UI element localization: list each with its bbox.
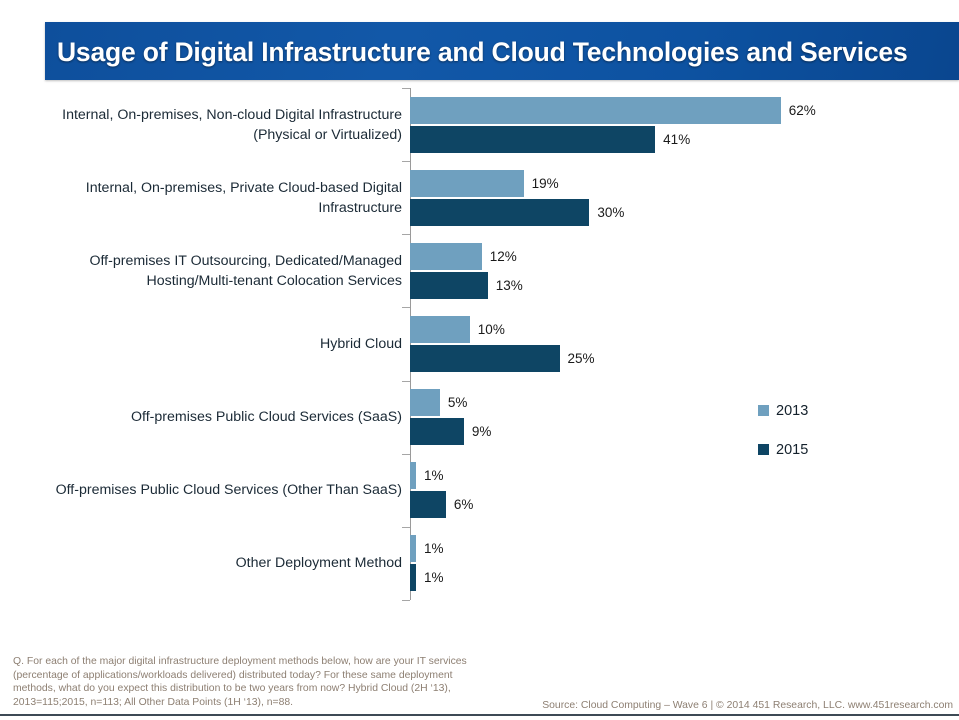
source-line: Source: Cloud Computing – Wave 6 | © 201… (542, 700, 953, 711)
bar-2013[interactable] (410, 389, 440, 416)
category-label: Other Deployment Method (22, 553, 402, 573)
bar-value-label: 1% (424, 535, 444, 562)
category-label-line: Hybrid Cloud (22, 334, 402, 354)
legend-swatch-2013 (758, 405, 769, 416)
footnote-question: Q. For each of the major digital infrast… (13, 655, 483, 709)
bar-value-label: 13% (496, 272, 523, 299)
legend-item-2015[interactable]: 2015 (758, 441, 808, 459)
bar-2015[interactable] (410, 564, 416, 591)
category-label-line: Other Deployment Method (22, 553, 402, 573)
category-label: Off-premises Public Cloud Services (Othe… (22, 480, 402, 500)
bar-value-label: 6% (454, 491, 474, 518)
bar-2013[interactable] (410, 170, 524, 197)
bar-2015[interactable] (410, 126, 655, 153)
legend-label-2013: 2013 (776, 403, 808, 419)
bar-2015[interactable] (410, 491, 446, 518)
bar-2013[interactable] (410, 535, 416, 562)
category-label-line: Infrastructure (22, 198, 402, 218)
category-label-line: (Physical or Virtualized) (22, 125, 402, 145)
bar-value-label: 62% (789, 97, 816, 124)
axis-tick (402, 454, 410, 455)
axis-tick (402, 161, 410, 162)
category-label: Internal, On-premises, Non-cloud Digital… (22, 105, 402, 145)
bar-value-label: 41% (663, 126, 690, 153)
axis-tick (402, 527, 410, 528)
category-label-line: Off-premises Public Cloud Services (SaaS… (22, 407, 402, 427)
category-label-line: Off-premises IT Outsourcing, Dedicated/M… (22, 251, 402, 271)
bar-2013[interactable] (410, 243, 482, 270)
bar-2013[interactable] (410, 462, 416, 489)
bar-2013[interactable] (410, 316, 470, 343)
bar-value-label: 1% (424, 564, 444, 591)
axis-tick (402, 381, 410, 382)
bar-value-label: 25% (568, 345, 595, 372)
axis-tick (402, 234, 410, 235)
legend-item-2013[interactable]: 2013 (758, 402, 808, 420)
bar-value-label: 1% (424, 462, 444, 489)
category-label: Internal, On-premises, Private Cloud-bas… (22, 178, 402, 218)
category-label-column: Internal, On-premises, Non-cloud Digital… (18, 88, 402, 600)
bar-value-label: 30% (597, 199, 624, 226)
slide-canvas: Usage of Digital Infrastructure and Clou… (0, 0, 959, 720)
axis-tick (402, 88, 410, 89)
bar-value-label: 9% (472, 418, 492, 445)
category-label: Hybrid Cloud (22, 334, 402, 354)
bottom-divider (0, 714, 959, 716)
bar-2013[interactable] (410, 97, 781, 124)
bar-2015[interactable] (410, 345, 560, 372)
category-label-line: Hosting/Multi-tenant Colocation Services (22, 271, 402, 291)
legend-swatch-2015 (758, 444, 769, 455)
category-label-line: Internal, On-premises, Non-cloud Digital… (22, 105, 402, 125)
axis-tick (402, 600, 410, 601)
category-label: Off-premises IT Outsourcing, Dedicated/M… (22, 251, 402, 291)
bar-value-label: 5% (448, 389, 468, 416)
bar-value-label: 10% (478, 316, 505, 343)
category-label-line: Off-premises Public Cloud Services (Othe… (22, 480, 402, 500)
bar-value-label: 19% (532, 170, 559, 197)
bar-2015[interactable] (410, 272, 488, 299)
axis-tick (402, 307, 410, 308)
bar-2015[interactable] (410, 418, 464, 445)
legend-label-2015: 2015 (776, 442, 808, 458)
bar-value-label: 12% (490, 243, 517, 270)
chart-plot-area: 62%41%19%30%12%13%10%25%5%9%1%6%1%1% (410, 88, 830, 600)
bar-2015[interactable] (410, 199, 589, 226)
category-label-line: Internal, On-premises, Private Cloud-bas… (22, 178, 402, 198)
page-title: Usage of Digital Infrastructure and Clou… (57, 34, 957, 70)
category-label: Off-premises Public Cloud Services (SaaS… (22, 407, 402, 427)
